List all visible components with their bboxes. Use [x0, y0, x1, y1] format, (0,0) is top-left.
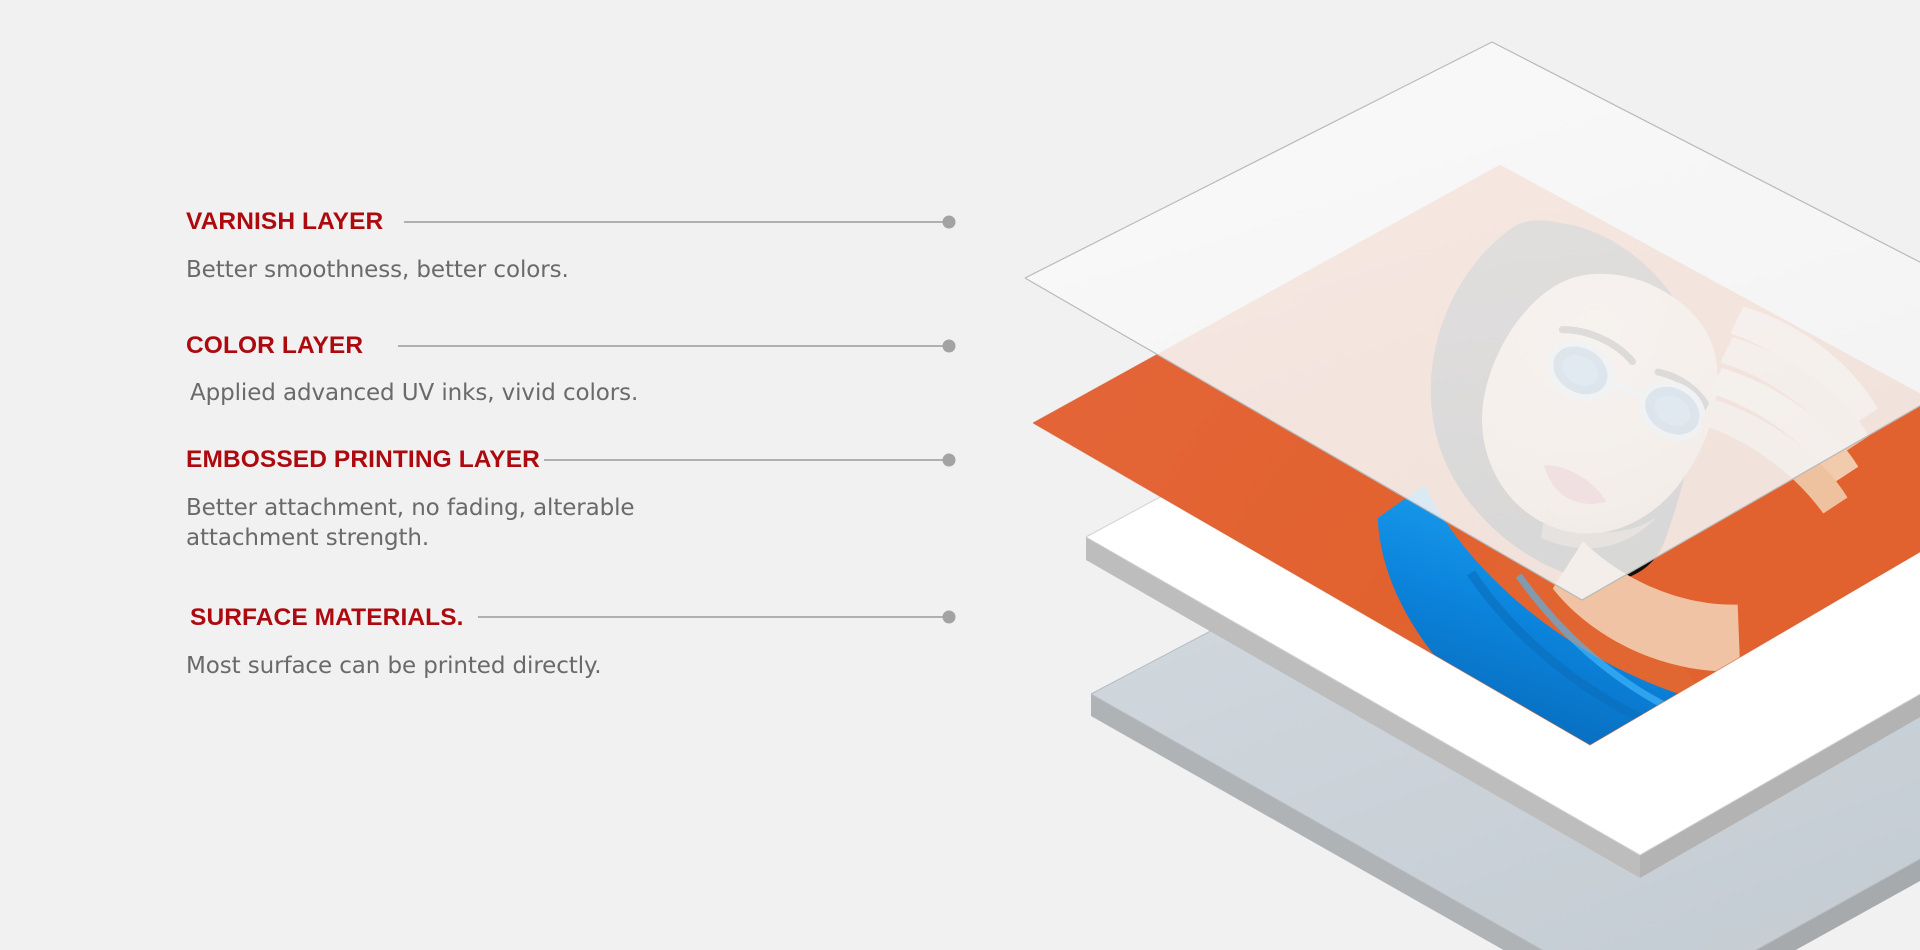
layer-title-surface: SURFACE MATERIALS.: [190, 606, 601, 631]
layer-label-varnish: VARNISH LAYER Better smoothness, better …: [186, 210, 569, 285]
model-lower-arm: [1546, 520, 1769, 704]
surface-layer-edge-2: [1648, 748, 1920, 950]
surface-layer-top: [1091, 448, 1920, 950]
diagram-canvas: VARNISH LAYER Better smoothness, better …: [0, 0, 1920, 950]
model-sunglasses: [1540, 322, 1712, 458]
layer-title-color: COLOR LAYER: [186, 334, 638, 359]
model-hair: [1360, 186, 1784, 612]
layer-label-color: COLOR LAYER Applied advanced UV inks, vi…: [186, 334, 638, 408]
layer-title-varnish: VARNISH LAYER: [186, 210, 569, 235]
color-layer-plane: [1033, 165, 1920, 745]
surface-layer-edge: [1091, 694, 1648, 950]
model-blue-top: [1317, 446, 1915, 913]
color-layer-outline: [1033, 165, 1920, 745]
emboss-layer-edge-2: [1640, 585, 1920, 878]
model-eyebrow-left: [1563, 319, 1635, 369]
emboss-layer-top: [1086, 285, 1920, 855]
model-blue-top-fold: [1450, 573, 1717, 753]
varnish-layer-plane: [1025, 42, 1920, 600]
layer-label-column: VARNISH LAYER Better smoothness, better …: [0, 0, 1100, 950]
layer-title-emboss: EMBOSSED PRINTING LAYER: [186, 448, 635, 473]
surface-material-layer: [1091, 448, 1920, 950]
layer-description-varnish: Better smoothness, better colors.: [186, 255, 569, 286]
varnish-layer-outline: [1025, 42, 1920, 600]
model-lips: [1536, 457, 1611, 516]
model-nose: [1583, 419, 1616, 467]
model-jaw-shadow: [1532, 467, 1656, 583]
emboss-layer-outline: [1086, 285, 1920, 855]
surface-layer-outline: [1091, 448, 1920, 950]
color-layer: [1033, 112, 1920, 913]
layer-description-color: Applied advanced UV inks, vivid colors.: [190, 378, 638, 409]
varnish-layer: [1025, 42, 1920, 600]
model-eyebrow-right: [1654, 368, 1715, 411]
layer-label-surface: SURFACE MATERIALS. Most surface can be p…: [186, 606, 601, 681]
layer-label-emboss: EMBOSSED PRINTING LAYER Better attachmen…: [186, 448, 635, 554]
model-photograph: [1276, 112, 1920, 913]
emboss-layer-edge: [1086, 537, 1640, 878]
model-blue-top-highlight: [1499, 575, 1747, 743]
layer-description-emboss: Better attachment, no fading, alterable …: [186, 493, 635, 554]
embossed-printing-layer: [1086, 285, 1920, 878]
model-hand: [1674, 300, 1908, 519]
layer-description-surface: Most surface can be printed directly.: [186, 651, 601, 682]
model-face: [1435, 234, 1761, 573]
photo-backdrop: [1420, 112, 1920, 690]
